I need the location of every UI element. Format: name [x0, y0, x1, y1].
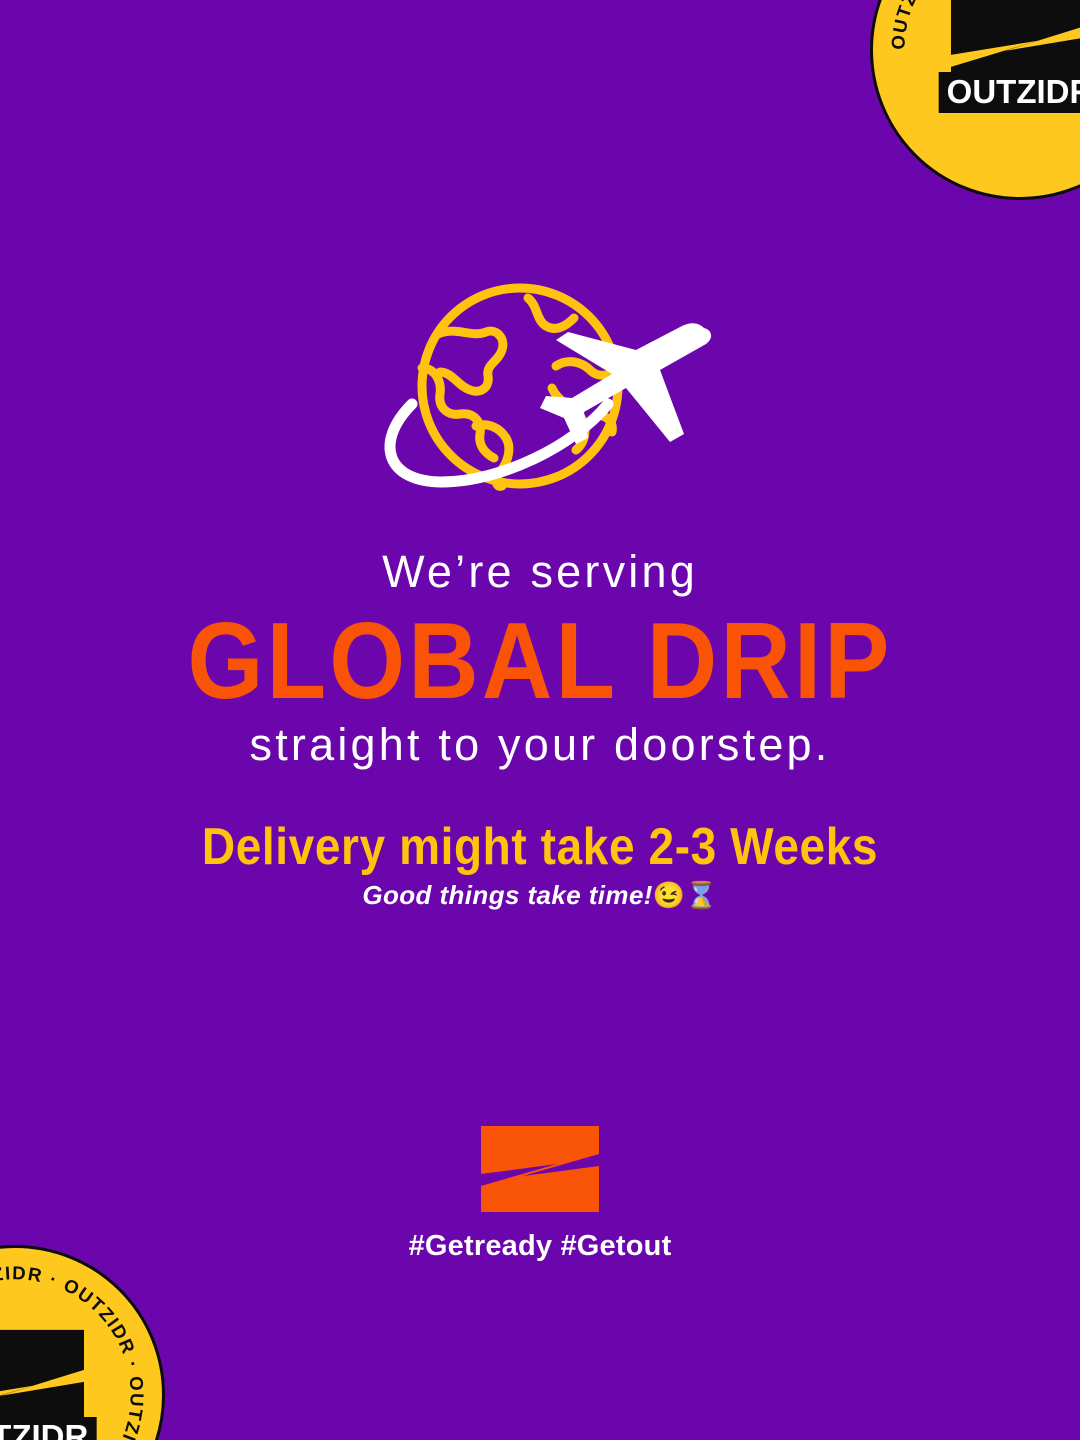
seal-wordmark-top-right: OUTZIDR	[939, 72, 1080, 113]
delivery-subtext: Good things take time!😉⌛	[0, 880, 1080, 911]
headline-line-2: GLOBAL DRIP	[0, 607, 1080, 716]
brand-seal-top-right: OUTZIDR · OUTZIDR · OUTZIDR · OUTZIDR · …	[870, 0, 1080, 200]
globe-airplane-illustration	[360, 276, 720, 512]
outzidr-z-logo-icon	[479, 1124, 601, 1214]
seal-wordmark-bottom-left: OUTZIDR	[0, 1417, 96, 1440]
footer-hashtags: #Getready #Getout	[0, 1232, 1080, 1261]
delivery-notice: Delivery might take 2-3 Weeks	[0, 818, 1080, 875]
delivery-subtext-label: Good things take time!	[362, 880, 652, 910]
brand-seal-bottom-left: OUTZIDR · OUTZIDR · OUTZIDR · OUTZIDR · …	[0, 1245, 165, 1440]
headline-line-3: straight to your doorstep.	[0, 721, 1080, 768]
footer-block: #Getready #Getout	[0, 1124, 1080, 1261]
delivery-emoji: 😉⌛	[653, 880, 718, 910]
headline-block: We’re serving GLOBAL DRIP straight to yo…	[0, 548, 1080, 769]
promo-poster: OUTZIDR · OUTZIDR · OUTZIDR · OUTZIDR · …	[0, 0, 1080, 1440]
headline-line-1: We’re serving	[0, 548, 1080, 595]
